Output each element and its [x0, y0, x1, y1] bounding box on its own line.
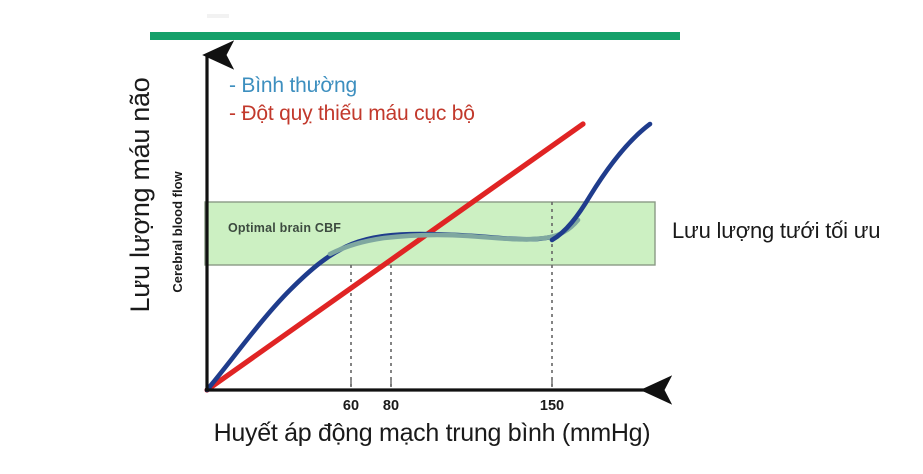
legend-item-ischemic-stroke: - Đột quỵ thiếu máu cục bộ [229, 100, 475, 128]
xtick-label-80: 80 [383, 398, 399, 414]
y-axis-label-primary: Lưu lượng máu não [125, 45, 156, 345]
chart-page: Lưu lượng máu não Cerebral blood flow - … [0, 0, 923, 474]
chart-legend: - Bình thường - Đột quỵ thiếu máu cục bộ [229, 72, 475, 127]
x-axis-title: Huyết áp động mạch trung bình (mmHg) [207, 419, 657, 448]
band-label-optimal-cbf: Optimal brain CBF [228, 221, 341, 235]
legend-item-normal: - Bình thường [229, 72, 475, 100]
xtick-label-60: 60 [343, 398, 359, 414]
y-axis-label-secondary: Cerebral blood flow [170, 102, 185, 362]
annotation-optimal-perfusion: Lưu lượng tưới tối ưu [672, 218, 880, 244]
xtick-label-150: 150 [540, 398, 564, 414]
